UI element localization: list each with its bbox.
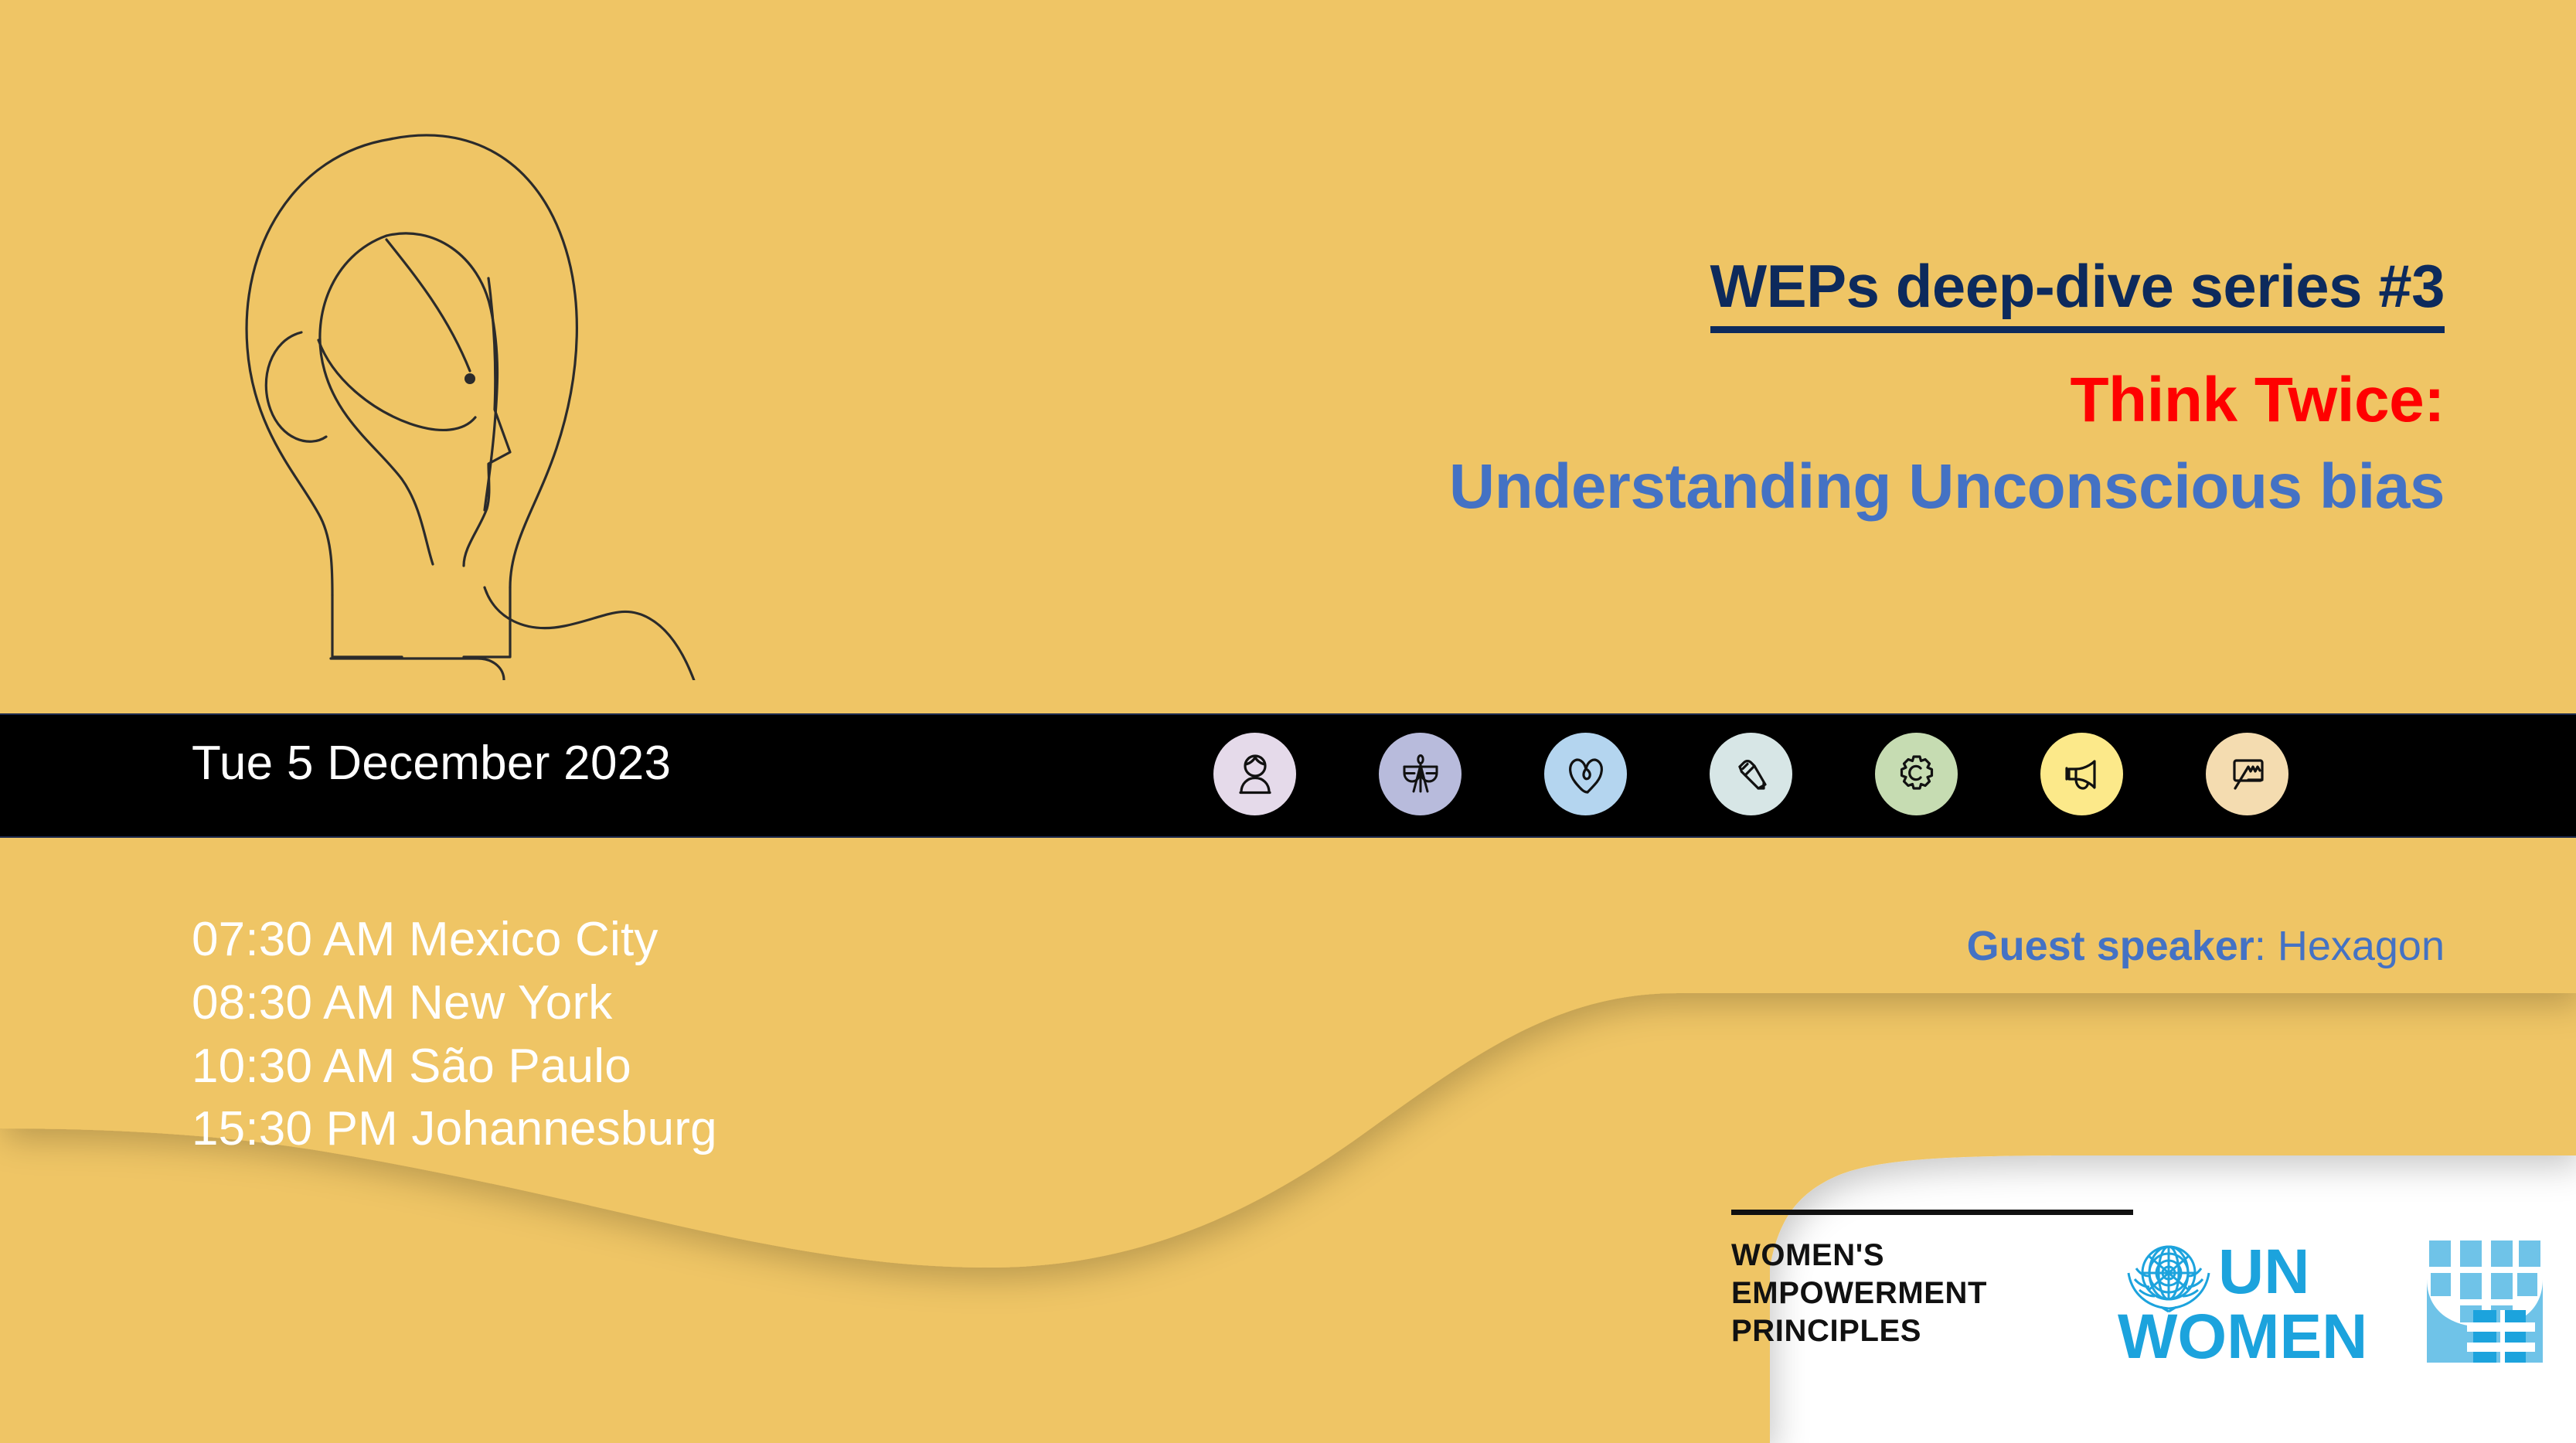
weps-logo-line-3: PRINCIPLES — [1731, 1312, 2056, 1350]
subtitle: Understanding Unconscious bias — [899, 454, 2445, 520]
think-twice-title: Think Twice: — [899, 367, 2445, 434]
guest-speaker-separator: : — [2254, 923, 2278, 969]
guest-speaker: Guest speaker: Hexagon — [1967, 922, 2445, 970]
time-line: 10:30 AM São Paulo — [192, 1035, 717, 1098]
un-women-logo-line-1: UN — [2218, 1237, 2309, 1307]
time-line: 07:30 AM Mexico City — [192, 908, 717, 972]
weps-principle-icons — [1213, 733, 2288, 815]
scales-icon — [1379, 733, 1462, 815]
weps-logo-line-2: EMPOWERMENT — [1731, 1275, 2056, 1312]
time-line: 15:30 PM Johannesburg — [192, 1098, 717, 1161]
timezone-list: 07:30 AM Mexico City 08:30 AM New York 1… — [192, 908, 717, 1161]
person-icon — [1213, 733, 1296, 815]
guest-speaker-label: Guest speaker — [1967, 923, 2254, 969]
gear-icon — [1875, 733, 1958, 815]
un-women-logo: UN WOMEN — [2118, 1225, 2550, 1372]
series-title-wrapper: WEPs deep-dive series #3 — [899, 255, 2445, 333]
weps-logo-line-1: WOMEN'S — [1731, 1237, 2056, 1275]
un-women-logo-line-2: WOMEN — [2118, 1302, 2367, 1372]
guest-speaker-name: Hexagon — [2278, 923, 2445, 969]
event-date: Tue 5 December 2023 — [192, 736, 671, 791]
megaphone-icon — [2040, 733, 2123, 815]
time-line: 08:30 AM New York — [192, 972, 717, 1035]
weps-logo-rule — [1731, 1210, 2133, 1215]
weps-logo: WOMEN'S EMPOWERMENT PRINCIPLES — [1731, 1210, 2056, 1349]
report-chart-icon — [2206, 733, 2288, 815]
heart-icon — [1544, 733, 1627, 815]
webinar-banner: WEPs deep-dive series #3 Think Twice: Un… — [0, 0, 2576, 1443]
lightbulb-face-illustration — [0, 46, 897, 680]
series-title: WEPs deep-dive series #3 — [1710, 255, 2445, 333]
pencil-icon — [1710, 733, 1792, 815]
gender-equality-mark-icon — [2427, 1239, 2543, 1363]
headings-block: WEPs deep-dive series #3 Think Twice: Un… — [899, 255, 2445, 520]
